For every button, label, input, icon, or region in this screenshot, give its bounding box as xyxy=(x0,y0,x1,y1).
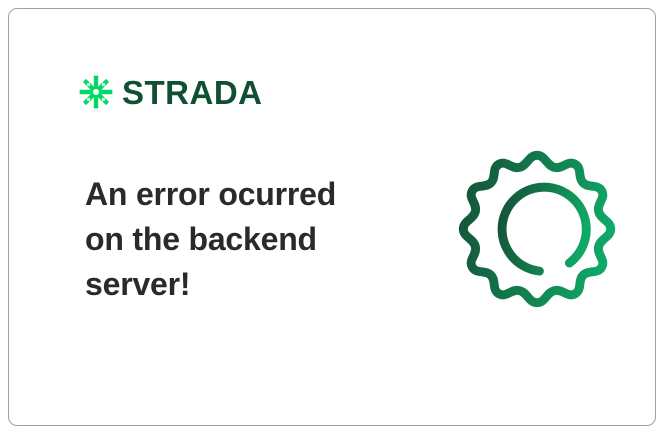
error-headline-line-3: server! xyxy=(85,266,190,302)
brand-logo: STRADA xyxy=(79,75,263,109)
brand-wordmark: STRADA xyxy=(122,76,263,109)
strada-asterisk-icon xyxy=(79,75,113,109)
error-headline-line-1: An error ocurred xyxy=(85,176,336,212)
error-headline-line-2: on the backend xyxy=(85,221,317,257)
error-headline: An error ocurred on the backend server! xyxy=(85,172,385,307)
error-card: STRADA An error ocurred on the backend s… xyxy=(8,8,656,426)
